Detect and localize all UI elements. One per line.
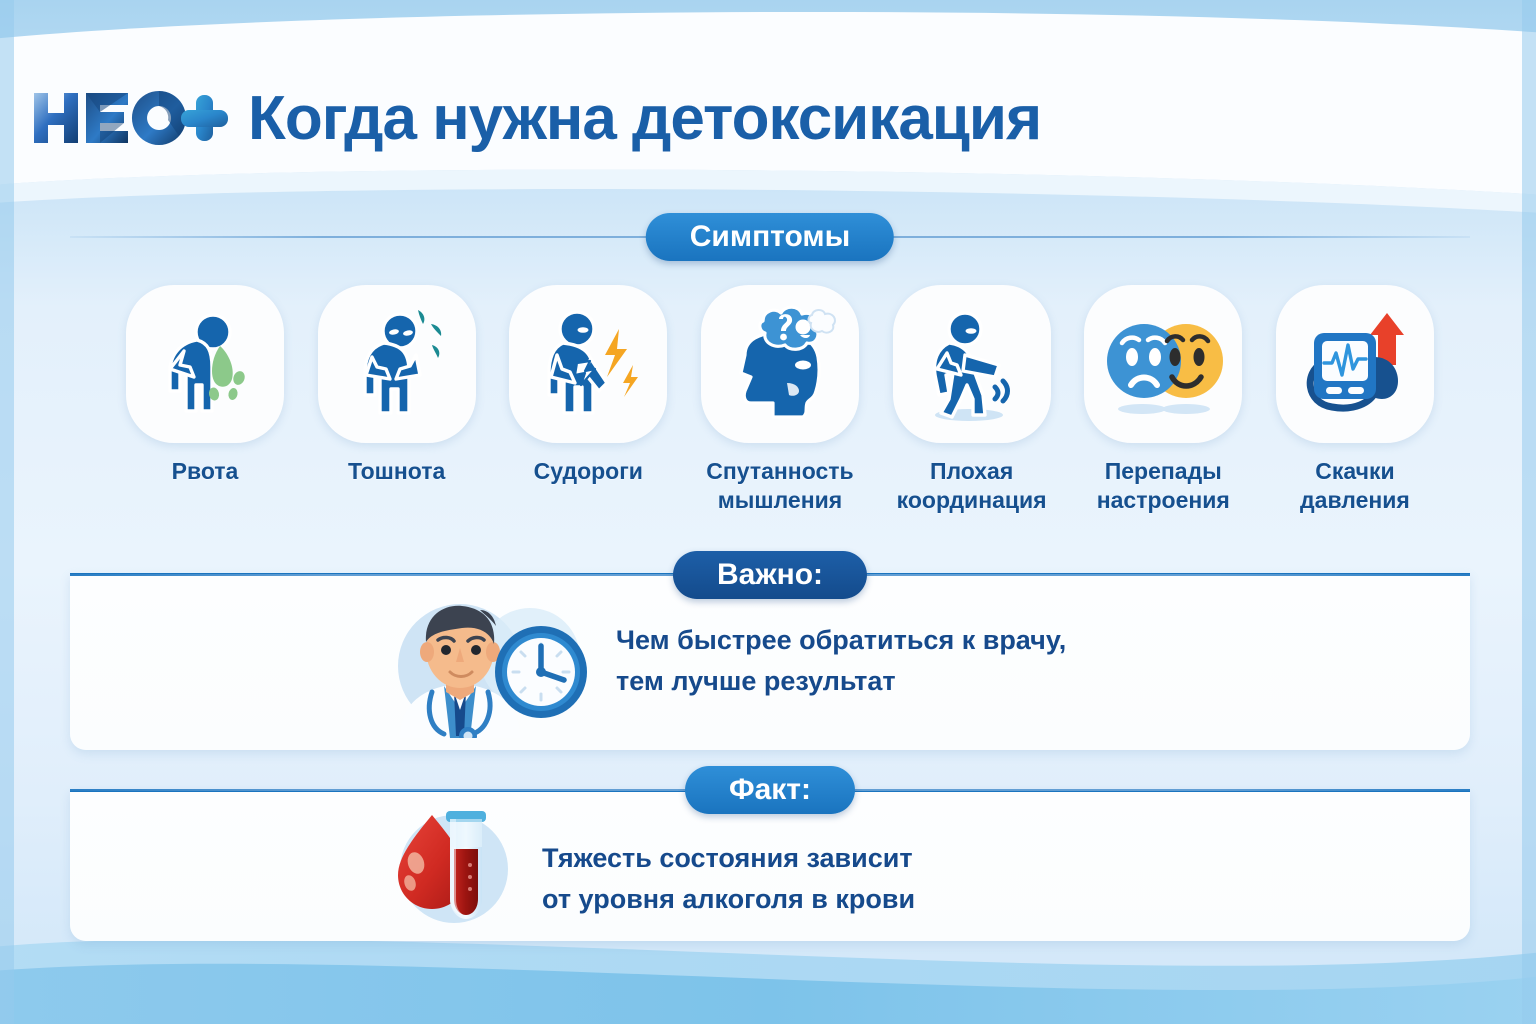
symptom-card-nausea[interactable]: Тошнота [312,285,482,535]
brand-logo[interactable] [30,87,230,149]
fact-badge: Факт: [685,766,855,814]
doctor-with-clock-illustration [370,588,600,738]
symptom-card-blood-pressure[interactable]: Скачки давления [1270,285,1440,535]
important-text-line1: Чем быстрее обратиться к врачу, [616,620,1066,661]
neo-plus-logo-icon [30,87,230,149]
confusion-icon [715,299,845,429]
symptom-label-line1: Плохая [897,457,1047,486]
symptom-label-line2: настроения [1097,486,1230,515]
symptom-label-line2: координация [897,486,1047,515]
symptom-label-line1: Скачки [1300,457,1410,486]
symptom-card-cramps[interactable]: Судороги [503,285,673,535]
important-section-header: Важно: [70,551,1470,599]
symptom-tile [1276,285,1434,443]
symptom-tile [1084,285,1242,443]
symptoms-section-header: Симптомы [70,213,1470,261]
cramps-icon [523,299,653,429]
symptoms-card-list: Рвота [120,285,1440,535]
symptom-label-line1: Спутанность [706,457,853,486]
symptom-tile [126,285,284,443]
fact-text: Тяжесть состояния зависит от уровня алко… [542,838,915,919]
mood-swings-icon [1098,299,1228,429]
symptom-tile [509,285,667,443]
symptom-label: Плохая координация [897,457,1047,516]
symptom-tile [701,285,859,443]
symptom-label: Скачки давления [1300,457,1410,516]
page-header: Когда нужна детоксикация [0,78,1536,158]
symptom-label-line2: давления [1300,486,1410,515]
fact-section-header: Факт: [70,766,1470,814]
symptom-label-line1: Перепады [1097,457,1230,486]
page-title: Когда нужна детоксикация [248,83,1041,154]
blood-pressure-icon [1290,299,1420,429]
symptom-card-confusion[interactable]: Спутанность мышления [695,285,865,535]
symptom-card-mood-swings[interactable]: Перепады настроения [1078,285,1248,535]
nausea-icon [332,299,462,429]
important-text-line2: тем лучше результат [616,661,1066,702]
symptom-tile [318,285,476,443]
symptom-label-line2: мышления [706,486,853,515]
symptom-card-poor-coordination[interactable]: Плохая координация [887,285,1057,535]
symptom-label: Спутанность мышления [706,457,853,516]
symptom-label: Рвота [172,457,239,486]
symptom-tile [893,285,1051,443]
important-badge: Важно: [673,551,867,599]
symptom-label: Тошнота [348,457,445,486]
fact-text-line2: от уровня алкоголя в крови [542,879,915,920]
blood-drop-test-tube-illustration [382,795,542,925]
symptoms-badge: Симптомы [646,213,894,261]
vomiting-icon [140,299,270,429]
important-text: Чем быстрее обратиться к врачу, тем лучш… [616,620,1066,701]
symptom-card-vomiting[interactable]: Рвота [120,285,290,535]
fact-text-line1: Тяжесть состояния зависит [542,838,915,879]
symptom-label: Судороги [534,457,643,486]
poor-coordination-icon [907,299,1037,429]
symptom-label: Перепады настроения [1097,457,1230,516]
